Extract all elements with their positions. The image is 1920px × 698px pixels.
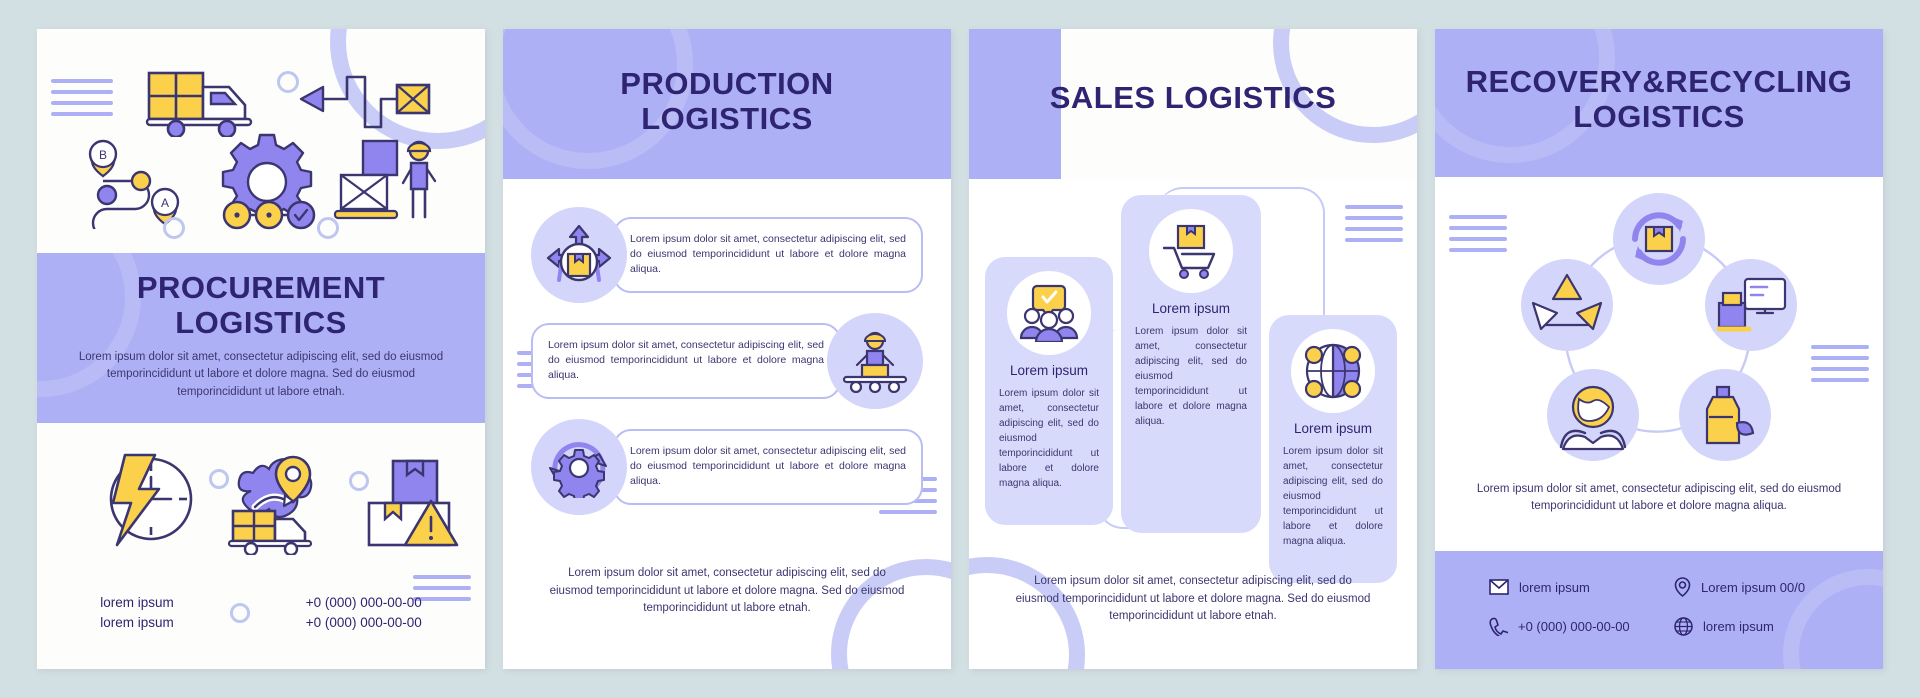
gear-conveyor-icon: [213, 133, 321, 231]
panel4-contact-phone-text: +0 (000) 000-00-00: [1518, 619, 1630, 634]
return-shipping-screen-icon: [1705, 259, 1797, 351]
panel2-item-3[interactable]: Lorem ipsum dolor sit amet, consectetur …: [531, 419, 923, 515]
panel3-footer-paragraph: Lorem ipsum dolor sit amet, consectetur …: [1013, 573, 1373, 625]
distribution-arrows-box-icon: [531, 207, 627, 303]
panel1-contact-left-line1: lorem ipsum: [100, 593, 174, 613]
panel4-contact-email[interactable]: lorem ipsum: [1489, 577, 1664, 597]
panel3-card-2-heading: Lorem ipsum: [1152, 301, 1230, 316]
panel1-title-band: PROCUREMENT LOGISTICS Lorem ipsum dolor …: [37, 253, 485, 423]
panel1-title: PROCUREMENT LOGISTICS: [37, 271, 485, 340]
panel1-title-line2: LOGISTICS: [37, 306, 485, 341]
panel1-phone-2: +0 (000) 000-00-00: [306, 613, 422, 633]
shopping-cart-package-icon: [1149, 209, 1233, 293]
panel3-card-2-text: Lorem ipsum dolor sit amet, consectetur …: [1135, 324, 1247, 429]
phone-icon: [1489, 617, 1508, 636]
panel2-item-1[interactable]: Lorem ipsum dolor sit amet, consectetur …: [531, 207, 923, 303]
panel1-contact-left: lorem ipsum lorem ipsum: [100, 593, 174, 634]
panel4-contact-website-text: lorem ipsum: [1703, 619, 1774, 634]
panel2-item-2-text: Lorem ipsum dolor sit amet, consectetur …: [531, 323, 841, 399]
panel4-contact-website[interactable]: lorem ipsum: [1674, 617, 1849, 636]
global-network-people-icon: [1291, 329, 1375, 413]
panel4-title-band: RECOVERY&RECYCLING LOGISTICS: [1435, 29, 1883, 177]
customers-approved-icon: [1007, 271, 1091, 355]
decor-line-group: [1811, 345, 1869, 382]
recycling-arrows-icon: [1521, 259, 1613, 351]
panel3-title-band: SALES LOGISTICS: [969, 29, 1417, 179]
panel3-title: SALES LOGISTICS: [969, 81, 1417, 116]
panel2-title-band: PRODUCTION LOGISTICS: [503, 29, 951, 179]
package-recycle-loop-icon: [1613, 193, 1705, 285]
panel4-paragraph: Lorem ipsum dolor sit amet, consectetur …: [1475, 481, 1843, 516]
damaged-package-warning-icon: [363, 459, 467, 553]
panel3-card-1-heading: Lorem ipsum: [1010, 363, 1088, 378]
panel1-contact-right: +0 (000) 000-00-00 +0 (000) 000-00-00: [306, 593, 422, 634]
panel-recovery-recycling-logistics[interactable]: RECOVERY&RECYCLING LOGISTICS: [1435, 29, 1883, 669]
panel4-contact-email-text: lorem ipsum: [1519, 580, 1590, 595]
panel2-title: PRODUCTION LOGISTICS: [503, 67, 951, 136]
decor-line-group: [51, 79, 113, 116]
cycle-gear-icon: [531, 419, 627, 515]
panel2-item-1-text: Lorem ipsum dolor sit amet, consectetur …: [613, 217, 923, 293]
panel3-card-1-text: Lorem ipsum dolor sit amet, consectetur …: [999, 386, 1099, 491]
panel4-contact-phone[interactable]: +0 (000) 000-00-00: [1489, 617, 1664, 636]
panel2-item-3-text: Lorem ipsum dolor sit amet, consectetur …: [613, 429, 923, 505]
decor-line-group: [1449, 215, 1507, 252]
panel2-title-line2: LOGISTICS: [503, 102, 951, 137]
panel1-contact-row: lorem ipsum lorem ipsum +0 (000) 000-00-…: [37, 593, 485, 634]
panel2-title-line1: PRODUCTION: [503, 67, 951, 102]
panel4-cycle-diagram: [1521, 193, 1797, 461]
panel3-card-3[interactable]: Lorem ipsum Lorem ipsum dolor sit amet, …: [1269, 315, 1397, 583]
brochure-spread: B A: [0, 0, 1920, 698]
decor-ring: [277, 71, 299, 93]
decor-ring: [230, 603, 250, 623]
decor-ring: [317, 217, 339, 239]
panel1-paragraph: Lorem ipsum dolor sit amet, consectetur …: [71, 349, 451, 401]
svg-text:A: A: [161, 196, 169, 210]
decor-ring: [163, 217, 185, 239]
panel1-contact-left-line2: lorem ipsum: [100, 613, 174, 633]
tracking-location-truck-icon: [225, 455, 341, 555]
panel4-contact-address-text: Lorem ipsum 00/0: [1701, 580, 1805, 595]
panel3-card-3-text: Lorem ipsum dolor sit amet, consectetur …: [1283, 444, 1383, 549]
map-pin-icon: [1674, 577, 1691, 597]
panel1-illustration-top: B A: [37, 29, 485, 253]
panel-procurement-logistics[interactable]: B A: [37, 29, 485, 669]
panel3-card-3-heading: Lorem ipsum: [1294, 421, 1372, 436]
panel2-footer-paragraph: Lorem ipsum dolor sit amet, consectetur …: [547, 565, 907, 617]
panel4-title: RECOVERY&RECYCLING LOGISTICS: [1435, 65, 1883, 134]
panel3-card-2[interactable]: Lorem ipsum Lorem ipsum dolor sit amet, …: [1121, 195, 1261, 533]
envelope-icon: [1489, 579, 1509, 595]
warehouse-worker-icon: [333, 133, 443, 231]
panel4-contact-address[interactable]: Lorem ipsum 00/0: [1674, 577, 1849, 597]
panel4-contact-band: lorem ipsum Lorem ipsum 00/0 +0 (000) 00…: [1435, 551, 1883, 669]
globe-icon: [1674, 617, 1693, 636]
earth-care-hands-icon: [1547, 369, 1639, 461]
panel1-title-line1: PROCUREMENT: [37, 271, 485, 306]
eco-packaging-icon: [1679, 369, 1771, 461]
panel4-title-line1: RECOVERY&RECYCLING: [1435, 65, 1883, 100]
panel2-item-2[interactable]: Lorem ipsum dolor sit amet, consectetur …: [531, 313, 923, 409]
gps-route-icon: B A: [81, 137, 201, 229]
worker-conveyor-icon: [827, 313, 923, 409]
svg-text:B: B: [99, 148, 107, 162]
delivery-truck-icon: [145, 67, 263, 137]
panel-production-logistics[interactable]: PRODUCTION LOGISTICS: [503, 29, 951, 669]
panel1-phone-1: +0 (000) 000-00-00: [306, 593, 422, 613]
fast-delivery-clock-icon: [89, 451, 199, 549]
decor-line-group: [1345, 205, 1403, 242]
panel4-contact-grid: lorem ipsum Lorem ipsum 00/0 +0 (000) 00…: [1489, 577, 1849, 636]
panel1-illustration-bottom: lorem ipsum lorem ipsum +0 (000) 000-00-…: [37, 423, 485, 669]
panel4-title-line2: LOGISTICS: [1435, 100, 1883, 135]
panel-sales-logistics[interactable]: SALES LOGISTICS Lorem ipsum Lorem ipsum …: [969, 29, 1417, 669]
panel3-card-1[interactable]: Lorem ipsum Lorem ipsum dolor sit amet, …: [985, 257, 1113, 525]
